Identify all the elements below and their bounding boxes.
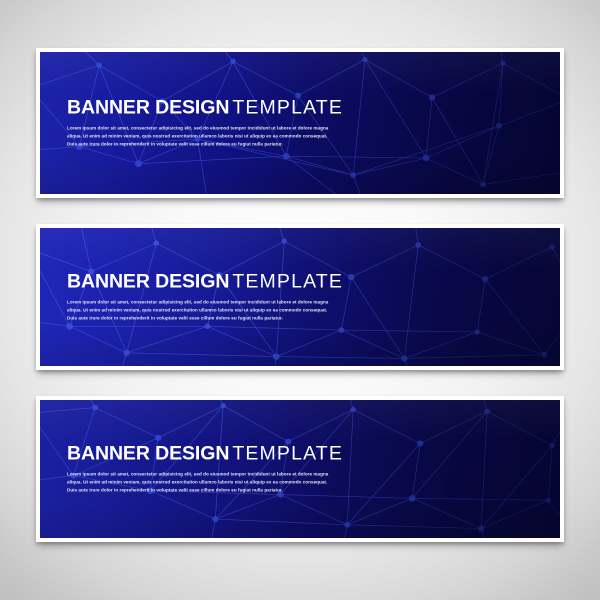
banner-title-2: BANNER DESIGNTEMPLATE <box>67 272 343 292</box>
banner-card-3[interactable]: BANNER DESIGNTEMPLATE Lorem ipsum dolor … <box>36 396 564 542</box>
banner-title-3: BANNER DESIGNTEMPLATE <box>67 444 343 464</box>
banner-artwork-3: BANNER DESIGNTEMPLATE Lorem ipsum dolor … <box>40 400 560 538</box>
banner-title-light-1: TEMPLATE <box>232 97 343 119</box>
banner-card-1[interactable]: BANNER DESIGNTEMPLATE Lorem ipsum dolor … <box>36 48 564 198</box>
page-canvas: BANNER DESIGNTEMPLATE Lorem ipsum dolor … <box>0 0 600 600</box>
banner-body-text-1: Lorem ipsum dolor sit amet, consectetur … <box>67 125 335 148</box>
banner-body-text-3: Lorem ipsum dolor sit amet, consectetur … <box>67 471 335 494</box>
banner-artwork-1: BANNER DESIGNTEMPLATE Lorem ipsum dolor … <box>40 52 560 194</box>
banner-body-text-2: Lorem ipsum dolor sit amet, consectetur … <box>67 299 335 322</box>
banner-card-2[interactable]: BANNER DESIGNTEMPLATE Lorem ipsum dolor … <box>36 224 564 370</box>
banner-title-bold-2: BANNER DESIGN <box>67 271 229 293</box>
banner-text-block-1: BANNER DESIGNTEMPLATE Lorem ipsum dolor … <box>67 98 343 149</box>
banner-title-light-3: TEMPLATE <box>232 443 343 465</box>
banner-title-bold-1: BANNER DESIGN <box>67 97 229 119</box>
banner-title-light-2: TEMPLATE <box>232 271 343 293</box>
banner-text-block-2: BANNER DESIGNTEMPLATE Lorem ipsum dolor … <box>67 272 343 323</box>
banner-title-1: BANNER DESIGNTEMPLATE <box>67 98 343 118</box>
banner-title-bold-3: BANNER DESIGN <box>67 443 229 465</box>
banner-text-block-3: BANNER DESIGNTEMPLATE Lorem ipsum dolor … <box>67 444 343 495</box>
banner-artwork-2: BANNER DESIGNTEMPLATE Lorem ipsum dolor … <box>40 228 560 366</box>
